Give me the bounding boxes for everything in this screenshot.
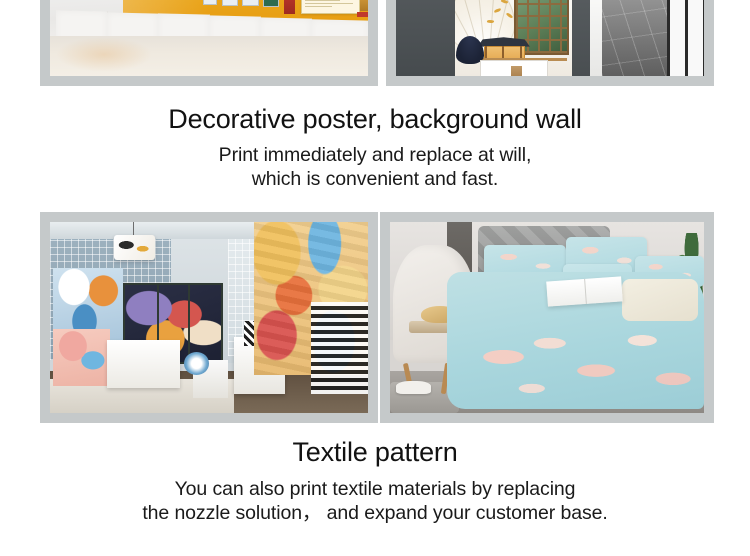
printed-pendant-lampshade — [114, 235, 155, 260]
decorative-poster-text-block: Decorative poster, background wall — [0, 102, 750, 136]
poster-item — [263, 0, 279, 7]
feature-panels-page: Decorative poster, background wall Print… — [0, 0, 750, 556]
textile-pattern-text-block: Textile pattern — [0, 435, 750, 469]
monochrome-printed-fabric — [311, 302, 368, 394]
floral-bedding-photo-inner — [390, 222, 704, 413]
corridor-poster-wall-photo-inner — [50, 0, 368, 76]
mural-petal — [487, 19, 494, 23]
corridor-window-mullions — [667, 0, 704, 76]
poster-item — [242, 0, 258, 6]
mural-background-wall-photo — [386, 0, 714, 86]
textile-pattern-subline-1-wrap: You can also print textile materials by … — [0, 477, 750, 502]
mural-background-wall-photo-inner — [396, 0, 704, 76]
printed-mural — [455, 0, 572, 76]
white-display-table — [107, 340, 180, 388]
slippers — [396, 381, 431, 394]
textile-pattern-subline-1: You can also print textile materials by … — [0, 477, 750, 502]
textile-showroom-photo-inner — [50, 222, 368, 413]
textile-pattern-subline-2: the nozzle solution， and expand your cus… — [0, 501, 750, 526]
decorative-poster-subline-2-wrap: which is convenient and fast. — [0, 167, 750, 192]
printed-tablecloth-display — [53, 329, 110, 386]
poster-item — [222, 0, 238, 6]
decorative-poster-subline-2: which is convenient and fast. — [0, 167, 750, 192]
corridor-poster-wall-photo — [40, 0, 378, 86]
floral-bedding-photo — [380, 212, 714, 423]
printed-decor-plate — [184, 352, 209, 375]
decorative-poster-subline-1: Print immediately and replace at will, — [0, 143, 750, 168]
poster-item — [203, 0, 218, 5]
red-plaque — [357, 12, 368, 17]
screen-panel-divider — [188, 285, 190, 361]
tiled-corridor — [602, 0, 704, 76]
textile-pattern-subline-2-wrap: the nozzle solution， and expand your cus… — [0, 501, 750, 526]
cream-knit-throw — [622, 279, 697, 321]
mural-wood-door — [511, 66, 523, 76]
information-poster — [301, 0, 360, 14]
textile-pattern-headline: Textile pattern — [0, 435, 750, 469]
decorative-poster-subline-1-wrap: Print immediately and replace at will, — [0, 143, 750, 168]
red-banner — [284, 0, 295, 14]
dark-wall-left — [396, 0, 455, 76]
floor-reflection — [56, 37, 151, 72]
textile-showroom-photo — [40, 212, 378, 423]
decorative-poster-headline: Decorative poster, background wall — [0, 102, 750, 136]
decorative-statue — [360, 0, 368, 11]
